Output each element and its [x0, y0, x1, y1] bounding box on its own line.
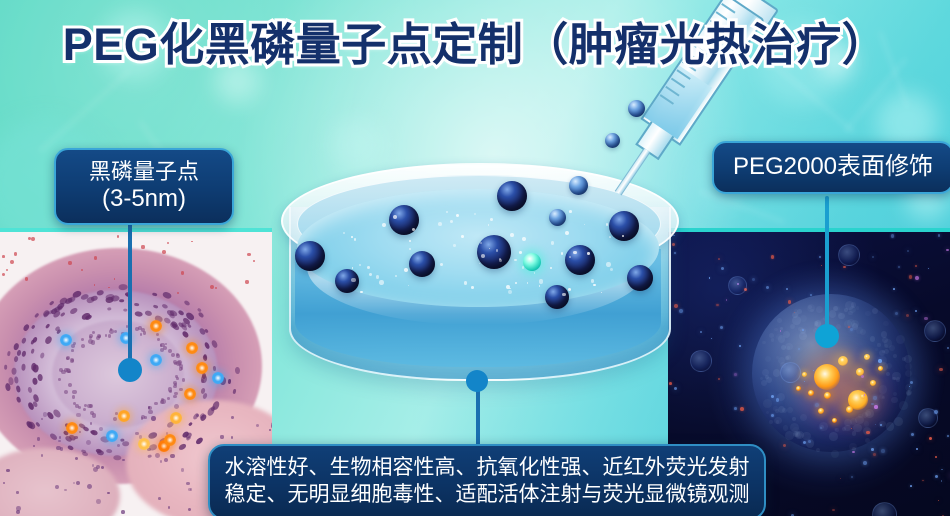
tissue-nucleus — [6, 469, 9, 472]
callout-right-label: PEG2000表面修饰 — [733, 153, 933, 180]
membrane-texture — [766, 377, 772, 383]
tissue-speckle — [253, 260, 255, 262]
background-particle — [852, 451, 855, 454]
quantum-dot — [409, 251, 435, 277]
tissue-nucleus — [177, 360, 182, 365]
background-particle — [734, 407, 737, 410]
tissue-nucleus — [148, 406, 150, 408]
syringe-needle — [615, 148, 651, 196]
tissue-nucleus — [71, 349, 74, 352]
tissue-nucleus — [37, 437, 41, 441]
droplet — [605, 133, 620, 148]
tissue-nucleus — [174, 392, 177, 395]
background-particle — [941, 469, 943, 471]
fluorescent-nanoparticle — [846, 406, 853, 413]
droplet — [628, 100, 645, 117]
tissue-nucleus — [16, 506, 21, 511]
nanoparticle-marker — [150, 320, 162, 332]
background-particle — [840, 478, 841, 479]
cell-body — [752, 294, 910, 452]
connector-left-dot — [118, 358, 142, 382]
liquid-bubble — [343, 232, 345, 234]
tissue-nucleus — [135, 432, 138, 435]
background-particle — [874, 405, 878, 409]
background-particle — [821, 265, 822, 266]
tissue-nucleus — [55, 485, 59, 489]
tissue-speckle — [10, 260, 14, 264]
membrane-texture — [891, 397, 897, 403]
background-particle — [915, 276, 919, 280]
tissue-nucleus — [271, 422, 272, 427]
tissue-nucleus — [269, 429, 271, 431]
membrane-texture — [893, 354, 897, 358]
background-particle — [924, 317, 927, 320]
membrane-texture — [899, 401, 907, 409]
background-particle — [804, 381, 805, 382]
membrane-texture — [892, 372, 901, 381]
background-particle — [739, 345, 741, 347]
tissue-nucleus — [155, 453, 160, 458]
tissue-nucleus — [140, 333, 143, 336]
quantum-dot — [627, 265, 653, 291]
background-particle — [878, 359, 882, 363]
fluorescent-nanoparticle — [864, 354, 870, 360]
liquid-bubble — [359, 264, 361, 266]
tissue-nucleus — [74, 436, 78, 440]
membrane-texture — [875, 348, 878, 351]
membrane-texture — [879, 385, 888, 394]
tissue-speckle — [28, 237, 31, 240]
membrane-texture — [855, 416, 863, 424]
background-particle — [947, 347, 949, 349]
liquid-bubble — [376, 275, 379, 278]
tissue-nucleus — [33, 445, 35, 447]
liquid-bubble — [539, 285, 541, 287]
tissue-nucleus — [212, 366, 216, 371]
tissue-nucleus — [96, 336, 100, 340]
caption-line1: 水溶性好、生物相容性高、抗氧化性强、近红外荧光发射 — [220, 454, 754, 481]
membrane-texture — [803, 334, 807, 338]
membrane-texture — [856, 306, 860, 310]
background-particle — [861, 375, 864, 378]
membrane-texture — [904, 355, 912, 363]
liquid-bubble — [609, 236, 611, 238]
page-title: PEG化黑磷量子点定制（肿瘤光热治疗） — [0, 8, 950, 73]
liquid-bubble — [606, 262, 611, 267]
liquid-bubble — [522, 237, 526, 241]
background-particle — [909, 386, 910, 387]
quantum-dot — [565, 245, 595, 275]
liquid-bubble — [456, 214, 459, 217]
background-particle — [709, 277, 710, 278]
tissue-speckle — [181, 271, 184, 274]
membrane-texture — [865, 438, 870, 443]
liquid-bubble — [534, 272, 535, 273]
callout-left-line2: (3-5nm) — [64, 185, 224, 213]
liquid-bubble — [367, 266, 370, 269]
membrane-texture — [886, 363, 892, 369]
background-particle — [776, 398, 779, 401]
liquid-bubble — [464, 281, 467, 284]
membrane-texture — [866, 411, 870, 415]
background-particle — [726, 299, 727, 300]
liquid-bubble — [508, 290, 512, 294]
background-particle — [915, 310, 917, 312]
background-particle — [880, 424, 881, 425]
membrane-texture — [797, 309, 802, 314]
background-particle — [798, 348, 800, 350]
fluorescent-nanoparticle — [838, 356, 848, 366]
liquid-bubble — [539, 279, 543, 283]
membrane-texture — [831, 450, 839, 458]
tissue-nucleus — [232, 388, 236, 393]
tissue-nucleus — [12, 368, 17, 375]
membrane-texture — [881, 331, 887, 337]
tissue-nucleus — [113, 417, 117, 421]
caption-line2: 稳定、无明显细胞毒性、适配活体注射与荧光显微镜观测 — [220, 481, 754, 508]
liquid-bubble — [550, 267, 552, 269]
background-particle — [716, 304, 719, 307]
quantum-dot — [477, 235, 511, 269]
tissue-nucleus — [181, 468, 185, 472]
background-cell — [872, 502, 897, 516]
tissue-nucleus — [59, 436, 61, 438]
background-particle — [802, 329, 804, 331]
background-particle — [909, 275, 913, 279]
liquid-bubble — [584, 224, 585, 225]
tissue-speckle — [2, 273, 5, 276]
background-particle — [916, 448, 918, 450]
background-particle — [866, 431, 870, 435]
liquid-bubble — [565, 231, 569, 235]
background-particle — [810, 294, 812, 296]
background-particle — [928, 268, 929, 269]
tissue-speckle — [2, 255, 5, 258]
background-particle — [910, 485, 912, 487]
background-particle — [938, 234, 940, 236]
fluorescent-nanoparticle — [808, 390, 814, 396]
membrane-texture — [870, 336, 875, 341]
membrane-texture — [783, 425, 788, 430]
tissue-nucleus — [170, 454, 174, 458]
background-particle — [939, 368, 942, 371]
liquid-bubble — [622, 235, 624, 237]
membrane-texture — [852, 431, 856, 435]
fluorescent-nanoparticle — [870, 380, 876, 386]
background-particle — [820, 427, 822, 429]
tissue-nucleus — [78, 406, 81, 409]
fluorescent-nanoparticle — [802, 372, 807, 377]
background-particle — [915, 265, 917, 267]
membrane-texture — [783, 331, 790, 338]
liquid-bubble — [450, 220, 453, 223]
membrane-texture — [766, 411, 769, 414]
tissue-nucleus — [86, 440, 91, 445]
background-particle — [922, 480, 923, 481]
membrane-texture — [883, 321, 889, 327]
liquid-bubble — [569, 256, 571, 258]
tissue-nucleus — [175, 375, 178, 378]
liquid-bubble — [514, 259, 516, 261]
membrane-texture — [773, 369, 781, 377]
caption-box[interactable]: 水溶性好、生物相容性高、抗氧化性强、近红外荧光发射 稳定、无明显细胞毒性、适配活… — [208, 444, 766, 516]
tissue-nucleus — [64, 489, 66, 491]
background-particle — [766, 286, 769, 289]
background-particle — [881, 449, 885, 453]
tissue-speckle — [94, 256, 97, 259]
background-particle — [872, 256, 874, 258]
tissue-speckle — [167, 242, 169, 244]
nanoparticle-marker — [138, 438, 150, 450]
tissue-nucleus — [173, 381, 177, 385]
fluorescent-nanoparticle — [824, 392, 831, 399]
membrane-texture — [792, 417, 796, 421]
membrane-texture — [877, 343, 880, 346]
membrane-texture — [800, 315, 807, 322]
tissue-nucleus — [220, 435, 223, 438]
background-cell — [690, 350, 712, 372]
nanoparticle-marker — [170, 412, 182, 424]
background-particle — [907, 250, 909, 252]
membrane-texture — [894, 417, 903, 426]
background-particle — [788, 300, 792, 304]
background-particle — [832, 509, 834, 511]
membrane-texture — [769, 420, 773, 424]
tissue-nucleus — [71, 344, 75, 348]
tissue-speckle — [6, 269, 8, 271]
background-particle — [898, 266, 900, 268]
liquid-bubble — [474, 213, 476, 215]
tissue-nucleus — [56, 446, 60, 450]
tissue-speckle — [14, 252, 17, 255]
tissue-nucleus — [107, 307, 111, 310]
nanoparticle-marker — [60, 334, 72, 346]
tissue-speckle — [25, 277, 28, 280]
background-particle — [935, 456, 937, 458]
dish-liquid-surface — [297, 189, 659, 307]
tissue-nucleus — [176, 377, 179, 380]
tissue-speckle — [31, 237, 35, 241]
background-particle — [819, 256, 821, 258]
background-particle — [700, 331, 702, 333]
liquid-bubble — [352, 267, 353, 268]
fluorescent-nanoparticle — [818, 408, 824, 414]
tissue-speckle — [210, 285, 214, 289]
tissue-nucleus — [72, 390, 76, 394]
tissue-nucleus — [151, 416, 156, 421]
background-particle — [771, 395, 774, 398]
tissue-speckle — [68, 261, 71, 264]
background-particle — [893, 288, 895, 290]
liquid-bubble — [551, 241, 554, 244]
background-particle — [720, 326, 723, 329]
background-particle — [786, 288, 788, 290]
background-particle — [906, 314, 909, 317]
liquid-bubble — [562, 293, 566, 297]
nanoparticle-marker — [196, 362, 208, 374]
background-particle — [938, 500, 939, 501]
liquid-bubble — [479, 263, 480, 264]
liquid-bubble — [471, 286, 474, 289]
connector-right-line — [825, 196, 829, 338]
tissue-nucleus — [143, 331, 146, 334]
membrane-texture — [905, 384, 912, 391]
background-cell — [924, 320, 946, 342]
tissue-nucleus — [41, 454, 43, 456]
nanoparticle-marker — [66, 422, 78, 434]
background-particle — [679, 309, 683, 313]
background-particle — [871, 448, 874, 451]
membrane-texture — [905, 370, 912, 377]
liquid-bubble — [409, 248, 410, 249]
connector-left-line — [128, 212, 132, 370]
liquid-bubble — [461, 235, 464, 238]
liquid-bubble — [438, 222, 442, 226]
background-particle — [843, 266, 845, 268]
liquid-bubble — [606, 223, 609, 226]
membrane-texture — [816, 448, 820, 452]
quantum-dot — [295, 241, 325, 271]
tissue-nucleus — [76, 413, 81, 418]
fluorescent-nanoparticle — [814, 364, 840, 390]
liquid-bubble — [490, 218, 493, 221]
tissue-nucleus — [58, 440, 61, 443]
membrane-texture — [790, 324, 795, 329]
background-particle — [929, 437, 932, 440]
callout-left[interactable]: 黑磷量子点 (3-5nm) — [54, 148, 234, 225]
liquid-bubble — [446, 211, 447, 212]
membrane-texture — [905, 363, 912, 370]
tissue-speckle — [141, 245, 144, 248]
background-particle — [771, 255, 775, 259]
tissue-nucleus — [121, 438, 125, 441]
nanoparticle-marker — [184, 388, 196, 400]
tissue-nucleus — [173, 395, 176, 398]
liquid-bubble — [408, 285, 409, 286]
liquid-bubble — [527, 282, 529, 284]
background-particle — [946, 249, 948, 251]
background-particle — [941, 480, 943, 482]
liquid-bubble — [591, 279, 594, 282]
membrane-texture — [771, 338, 775, 342]
quantum-dot — [497, 181, 527, 211]
infographic-poster: PEG化黑磷量子点定制（肿瘤光热治疗） 黑磷量子点 (3-5nm) PEG200… — [0, 0, 950, 516]
connector-center-dot — [466, 370, 488, 392]
background-particle — [721, 267, 724, 270]
tissue-nucleus — [179, 388, 183, 392]
background-particle — [947, 435, 949, 437]
background-particle — [863, 461, 867, 465]
tissue-nucleus — [158, 497, 161, 500]
membrane-texture — [893, 392, 897, 396]
quantum-dot — [609, 211, 639, 241]
background-particle — [734, 373, 737, 376]
tissue-nucleus — [92, 464, 94, 466]
fluorescent-nanoparticle — [878, 366, 883, 371]
liquid-bubble — [587, 252, 589, 254]
fluorescent-nanoparticle — [796, 386, 801, 391]
tissue-nucleus — [4, 365, 7, 370]
background-particle — [815, 403, 819, 407]
background-particle — [718, 258, 720, 260]
tissue-nucleus — [108, 334, 112, 338]
membrane-texture — [765, 356, 771, 362]
liquid-bubble — [519, 251, 522, 254]
liquid-bubble — [379, 280, 384, 285]
connector-right-dot — [815, 324, 839, 348]
background-particle — [895, 312, 898, 315]
liquid-bubble — [561, 252, 564, 255]
liquid-bubble — [569, 210, 572, 213]
tissue-nucleus — [87, 484, 92, 489]
background-cell — [838, 244, 860, 266]
background-particle — [783, 444, 786, 447]
nanoparticle-marker — [118, 410, 130, 422]
membrane-texture — [872, 308, 878, 314]
membrane-texture — [774, 328, 777, 331]
liquid-bubble — [515, 282, 517, 284]
liquid-bubble — [395, 275, 397, 277]
membrane-texture — [782, 408, 787, 413]
tissue-nucleus — [154, 402, 157, 405]
background-particle — [891, 234, 894, 237]
background-particle — [910, 381, 913, 384]
tissue-nucleus — [160, 343, 164, 347]
liquid-bubble — [351, 236, 353, 238]
membrane-texture — [906, 390, 911, 395]
membrane-texture — [810, 309, 813, 312]
liquid-bubble — [360, 291, 362, 293]
tissue-nucleus — [231, 416, 234, 419]
fluorescent-nanoparticle — [832, 418, 837, 423]
tissue-nucleus — [168, 506, 171, 509]
tissue-nucleus — [32, 377, 37, 384]
tissue-nucleus — [190, 488, 192, 490]
liquid-bubble — [610, 268, 614, 272]
liquid-bubble — [354, 238, 356, 240]
liquid-bubble — [409, 240, 411, 242]
nanoparticle-marker — [212, 372, 224, 384]
tissue-speckle — [162, 250, 166, 254]
background-particle — [711, 338, 712, 339]
nanoparticle-marker — [164, 434, 176, 446]
tissue-nucleus — [141, 417, 144, 420]
tissue-nucleus — [121, 441, 129, 446]
background-cell — [728, 276, 747, 295]
tissue-speckle — [117, 235, 120, 238]
background-particle — [718, 378, 720, 380]
callout-right[interactable]: PEG2000表面修饰 — [712, 141, 950, 194]
membrane-texture — [834, 306, 839, 311]
membrane-texture — [879, 350, 885, 356]
quantum-dot — [545, 285, 569, 309]
tissue-nucleus — [234, 366, 239, 374]
background-particle — [851, 476, 853, 478]
background-particle — [850, 328, 853, 331]
tissue-nucleus — [121, 510, 125, 514]
tissue-nucleus — [148, 410, 152, 414]
liquid-bubble — [440, 263, 443, 266]
background-particle — [873, 396, 876, 399]
membrane-texture — [842, 427, 846, 431]
background-particle — [851, 428, 852, 429]
membrane-texture — [787, 407, 793, 413]
background-particle — [935, 475, 938, 478]
tissue-nucleus — [176, 353, 179, 356]
membrane-texture — [860, 329, 867, 336]
liquid-bubble — [488, 224, 489, 225]
membrane-texture — [896, 335, 905, 344]
